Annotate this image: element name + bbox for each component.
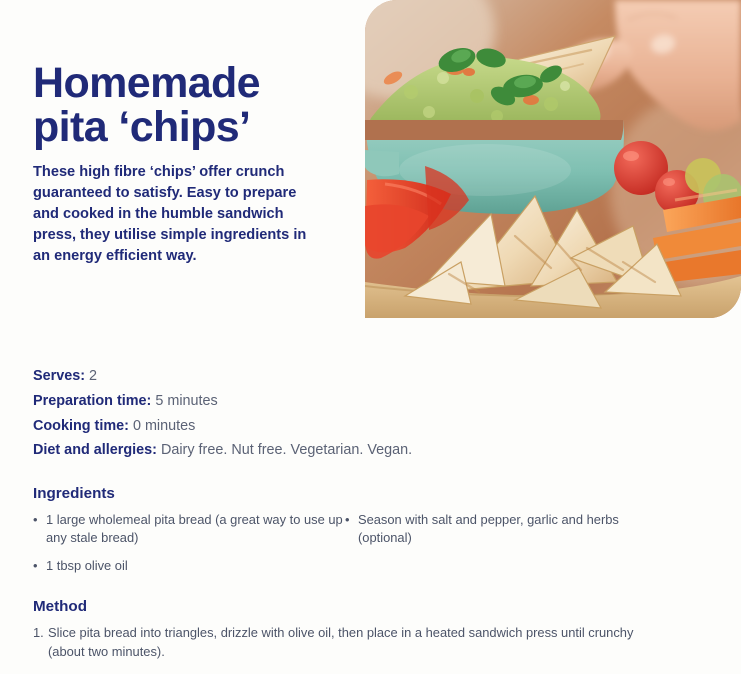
meta-row-preparation-time: Preparation time: 5 minutes	[33, 389, 593, 414]
bullet-icon: •	[345, 511, 358, 548]
bullet-icon: •	[33, 557, 46, 575]
meta-label-diet-and-allergies: Diet and allergies:	[33, 442, 157, 458]
method-list: 1. Slice pita bread into triangles, driz…	[33, 624, 673, 661]
list-item: • 1 tbsp olive oil	[33, 557, 345, 575]
ingredient-text: 1 large wholemeal pita bread (a great wa…	[46, 511, 345, 548]
recipe-description: These high fibre ‘chips’ offer crunch gu…	[33, 162, 325, 268]
ingredient-text: 1 tbsp olive oil	[46, 557, 345, 575]
recipe-title-line-2: pita ‘chips’	[33, 103, 250, 151]
ingredients-columns: • 1 large wholemeal pita bread (a great …	[33, 511, 693, 584]
meta-label-preparation-time: Preparation time:	[33, 393, 151, 409]
recipe-title-line-1: Homemade	[33, 59, 260, 107]
pita-chips-guacamole-photo	[365, 0, 741, 318]
meta-value-diet-and-allergies: Dairy free. Nut free. Vegetarian. Vegan.	[161, 442, 412, 458]
meta-row-diet-and-allergies: Diet and allergies: Dairy free. Nut free…	[33, 438, 593, 463]
recipe-page: Homemade pita ‘chips’ These high fibre ‘…	[0, 0, 741, 674]
meta-value-preparation-time: 5 minutes	[155, 393, 217, 409]
list-item: • 1 large wholemeal pita bread (a great …	[33, 511, 345, 548]
meta-value-cooking-time: 0 minutes	[133, 418, 195, 434]
ingredients-heading: Ingredients	[33, 485, 693, 502]
title-block: Homemade pita ‘chips’ These high fibre ‘…	[33, 62, 333, 268]
ingredients-section: Ingredients • 1 large wholemeal pita bre…	[33, 485, 693, 584]
page-title: Homemade pita ‘chips’	[33, 62, 333, 150]
ingredients-column-1: • 1 large wholemeal pita bread (a great …	[33, 511, 345, 584]
list-item: • Season with salt and pepper, garlic an…	[345, 511, 657, 548]
method-step-text: Slice pita bread into triangles, drizzle…	[48, 624, 673, 661]
ingredient-text: Season with salt and pepper, garlic and …	[358, 511, 657, 548]
ingredients-column-2: • Season with salt and pepper, garlic an…	[345, 511, 657, 584]
meta-label-serves: Serves:	[33, 368, 85, 384]
list-item: 1. Slice pita bread into triangles, driz…	[33, 624, 673, 661]
meta-label-cooking-time: Cooking time:	[33, 418, 129, 434]
meta-row-cooking-time: Cooking time: 0 minutes	[33, 414, 593, 439]
meta-value-serves: 2	[89, 368, 97, 384]
recipe-meta: Serves: 2 Preparation time: 5 minutes Co…	[33, 364, 593, 463]
bullet-icon: •	[33, 511, 46, 548]
meta-row-serves: Serves: 2	[33, 364, 593, 389]
method-step-number: 1.	[33, 624, 48, 661]
method-section: Method 1. Slice pita bread into triangle…	[33, 598, 673, 661]
method-heading: Method	[33, 598, 673, 615]
